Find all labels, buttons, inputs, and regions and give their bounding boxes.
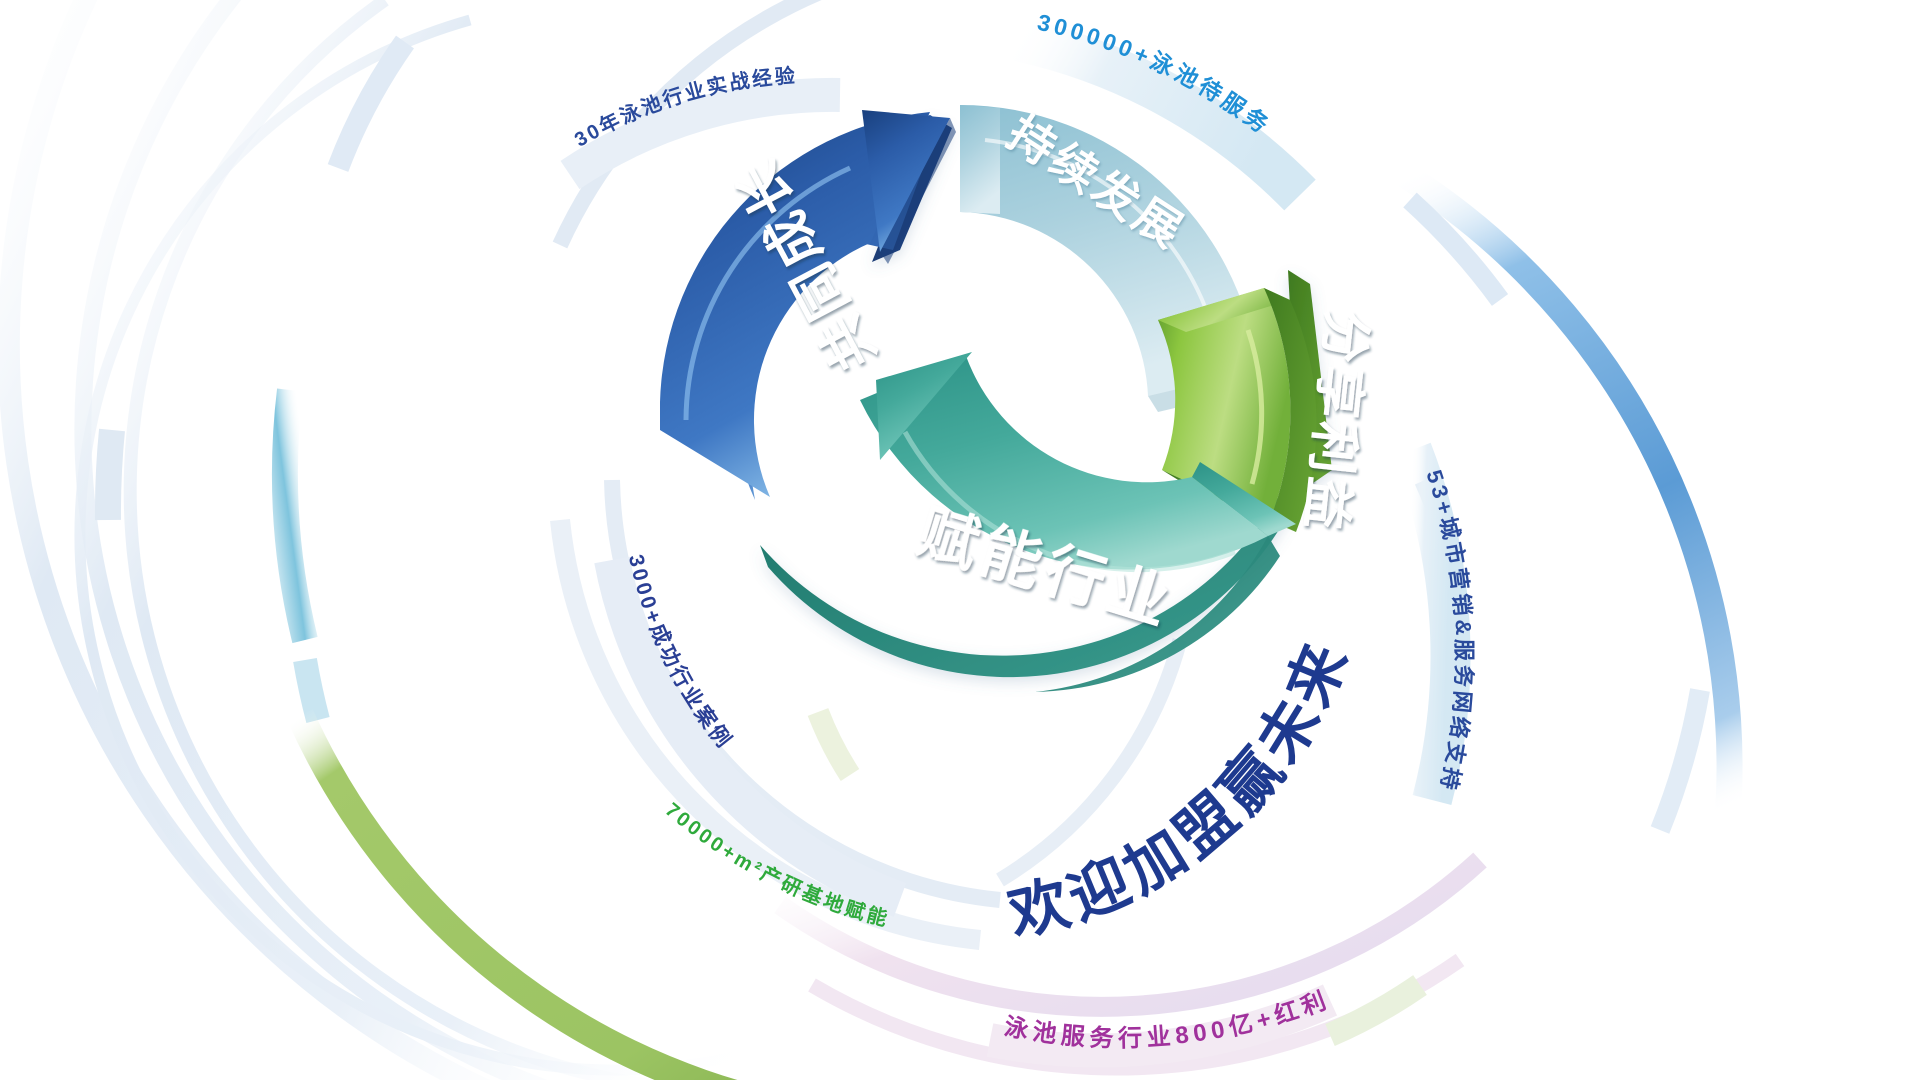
- orbit-label-welcome-join: 欢迎加盟赢未来: [1001, 629, 1362, 948]
- chip-green-small: [818, 712, 850, 775]
- lightblue-segment-tail[interactable]: [960, 105, 1000, 214]
- infographic-canvas: 共同成长 持续发展 分享利益 赋能行业 30年泳池行业实战经验 300000+泳…: [0, 0, 1920, 1080]
- ring-diagram: 共同成长 持续发展 分享利益 赋能行业 30年泳池行业实战经验 300000+泳…: [0, 0, 1920, 1080]
- chip-bottom-green: [1330, 985, 1420, 1035]
- arc-cyan-left: [285, 390, 305, 640]
- chip-right-lower: [1660, 690, 1700, 830]
- chip-left-mid: [108, 430, 112, 520]
